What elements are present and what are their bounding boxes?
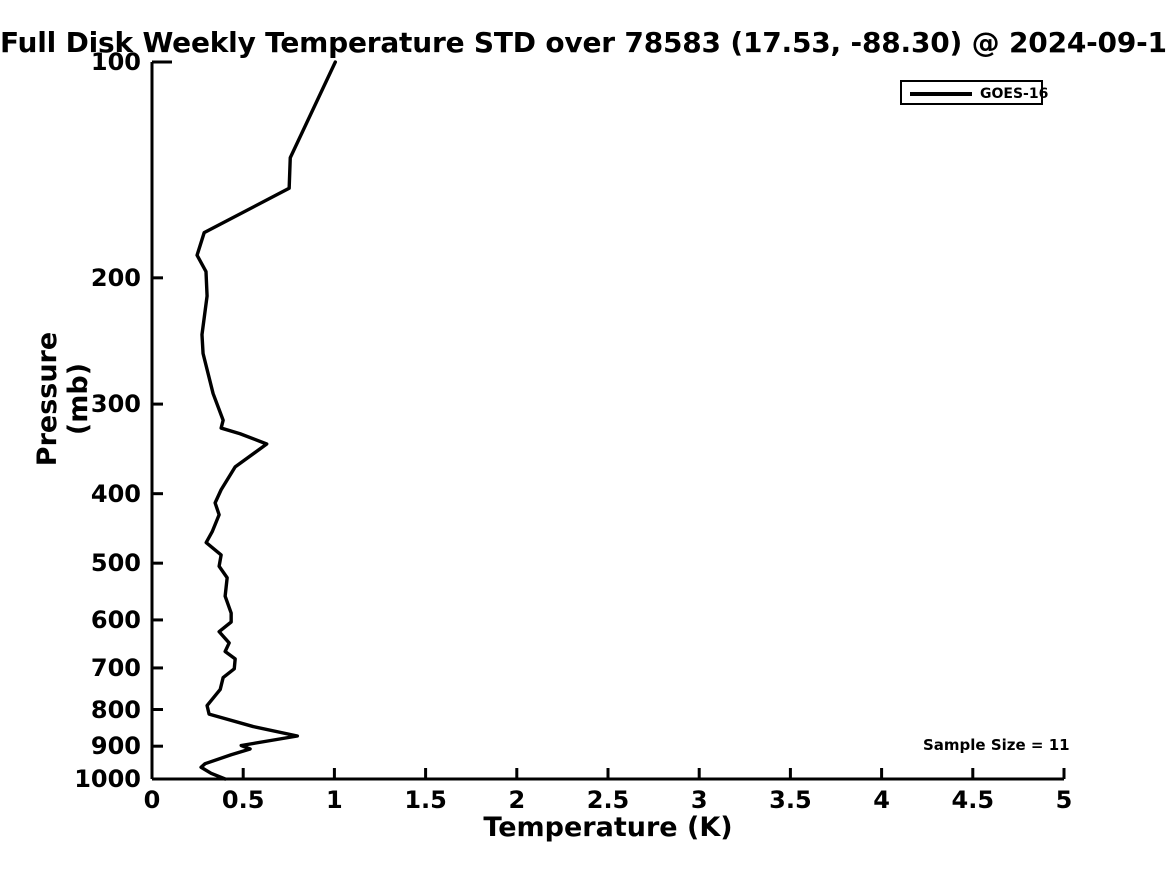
x-tick-label: 2 (508, 786, 525, 814)
x-tick-label: 2.5 (587, 786, 630, 814)
x-tick-label: 0.5 (222, 786, 265, 814)
data-series-goes16 (197, 62, 335, 779)
x-axis-label: Temperature (K) (152, 812, 1064, 843)
y-axis-label: Pressure (mb) (32, 299, 94, 499)
legend-label-goes16: GOES-16 (980, 86, 1048, 102)
x-tick-label: 4 (873, 786, 890, 814)
y-tick-label: 900 (11, 732, 141, 760)
y-tick-label: 100 (11, 48, 141, 76)
y-tick-label: 200 (11, 264, 141, 292)
x-tick-label: 3 (691, 786, 708, 814)
x-tick-label: 3.5 (769, 786, 812, 814)
chart-legend: GOES-16 (900, 80, 1043, 105)
figure-canvas: Full Disk Weekly Temperature STD over 78… (0, 0, 1167, 875)
y-tick-label: 800 (11, 696, 141, 724)
x-axis-ticks (152, 768, 1064, 779)
y-axis-ticks (152, 62, 163, 779)
y-tick-label: 700 (11, 654, 141, 682)
y-tick-label: 500 (11, 549, 141, 577)
x-tick-label: 1 (326, 786, 343, 814)
x-tick-label: 4.5 (952, 786, 995, 814)
x-tick-label: 1.5 (404, 786, 447, 814)
legend-line-swatch (910, 92, 972, 96)
y-tick-label: 1000 (11, 765, 141, 793)
sample-size-annotation: Sample Size = 11 (923, 736, 1070, 754)
y-tick-label: 600 (11, 606, 141, 634)
x-tick-label: 0 (144, 786, 161, 814)
x-tick-label: 5 (1056, 786, 1073, 814)
